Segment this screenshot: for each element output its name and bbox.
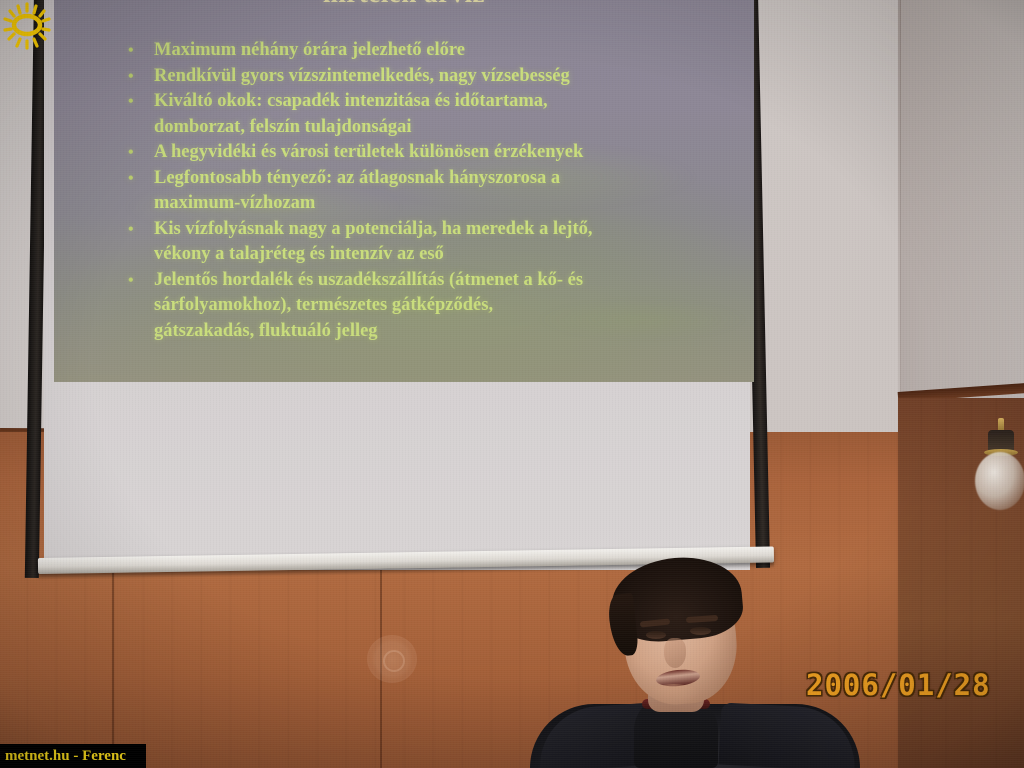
bullet-marker-icon: • (128, 217, 154, 243)
slide-bullet-continuation: sárfolyamokhoz), természetes gátképződés… (128, 293, 748, 319)
camera-datestamp: 2006/01/28 (806, 668, 991, 702)
wall-sconce-lamp (976, 418, 1024, 518)
bullet-line: gátszakadás, fluktuáló jelleg (154, 319, 748, 345)
bullet-line: A hegyvidéki és városi területek különös… (154, 140, 748, 166)
bullet-marker-icon: • (128, 268, 154, 294)
slide-bullet-item: • Legfontosabb tényező: az átlagosnak há… (128, 166, 748, 192)
wall-corner-shading (900, 0, 1024, 430)
slide-bullet-item: • Kis vízfolyásnak nagy a potenciálja, h… (128, 217, 748, 243)
slide-bullet-item: • A hegyvidéki és városi területek külön… (128, 140, 748, 166)
presenter-eye-left (646, 631, 666, 639)
bullet-marker-icon: • (128, 64, 154, 90)
projected-slide: “hirtelen árvíz” • Maximum néhány órára … (54, 0, 754, 382)
bullet-line: vékony a talajréteg és intenzív az eső (154, 242, 748, 268)
sun-icon (2, 2, 52, 50)
watermark-banner: metnet.hu - Ferenc (0, 744, 146, 768)
presenter-jacket-right (718, 702, 857, 768)
presenter (530, 556, 860, 768)
bullet-marker-icon: • (128, 89, 154, 115)
slide-title: “hirtelen árvíz” (54, 0, 754, 9)
presenter-chin (648, 684, 700, 706)
bullet-line: sárfolyamokhoz), természetes gátképződés… (154, 293, 748, 319)
bullet-line: Kis vízfolyásnak nagy a potenciálja, ha … (154, 217, 748, 243)
sconce-globe (975, 452, 1024, 510)
bullet-marker-icon: • (128, 166, 154, 192)
wall-emblem (367, 635, 417, 683)
presenter-nose (664, 638, 686, 668)
bullet-marker-icon: • (128, 38, 154, 64)
bullet-line: Kiváltó okok: csapadék intenzitása és id… (154, 89, 748, 115)
slide-bullet-item: • Rendkívül gyors vízszintemelkedés, nag… (128, 64, 748, 90)
slide-bullet-item: • Jelentős hordalék és uszadékszállítás … (128, 268, 748, 294)
bullet-marker-icon: • (128, 140, 154, 166)
slide-bullet-continuation: domborzat, felszín tulajdonságai (128, 115, 748, 141)
slide-bullet-continuation: vékony a talajréteg és intenzív az eső (128, 242, 748, 268)
slide-bullet-list: • Maximum néhány órára jelezhető előre •… (128, 38, 748, 344)
bullet-line: domborzat, felszín tulajdonságai (154, 115, 748, 141)
slide-bullet-item: • Kiváltó okok: csapadék intenzitása és … (128, 89, 748, 115)
bullet-line: maximum-vízhozam (154, 191, 748, 217)
bullet-line: Maximum néhány órára jelezhető előre (154, 38, 748, 64)
wall-corner-edge (898, 0, 901, 420)
presentation-photo: “hirtelen árvíz” • Maximum néhány órára … (0, 0, 1024, 768)
slide-bullet-item: • Maximum néhány órára jelezhető előre (128, 38, 748, 64)
slide-bullet-continuation: gátszakadás, fluktuáló jelleg (128, 319, 748, 345)
projection-screen: “hirtelen árvíz” • Maximum néhány órára … (26, 0, 786, 592)
bullet-line: Jelentős hordalék és uszadékszállítás (á… (154, 268, 748, 294)
presenter-eye-right (690, 627, 711, 635)
bullet-line: Legfontosabb tényező: az átlagosnak hány… (154, 166, 748, 192)
slide-bullet-continuation: maximum-vízhozam (128, 191, 748, 217)
bullet-line: Rendkívül gyors vízszintemelkedés, nagy … (154, 64, 748, 90)
